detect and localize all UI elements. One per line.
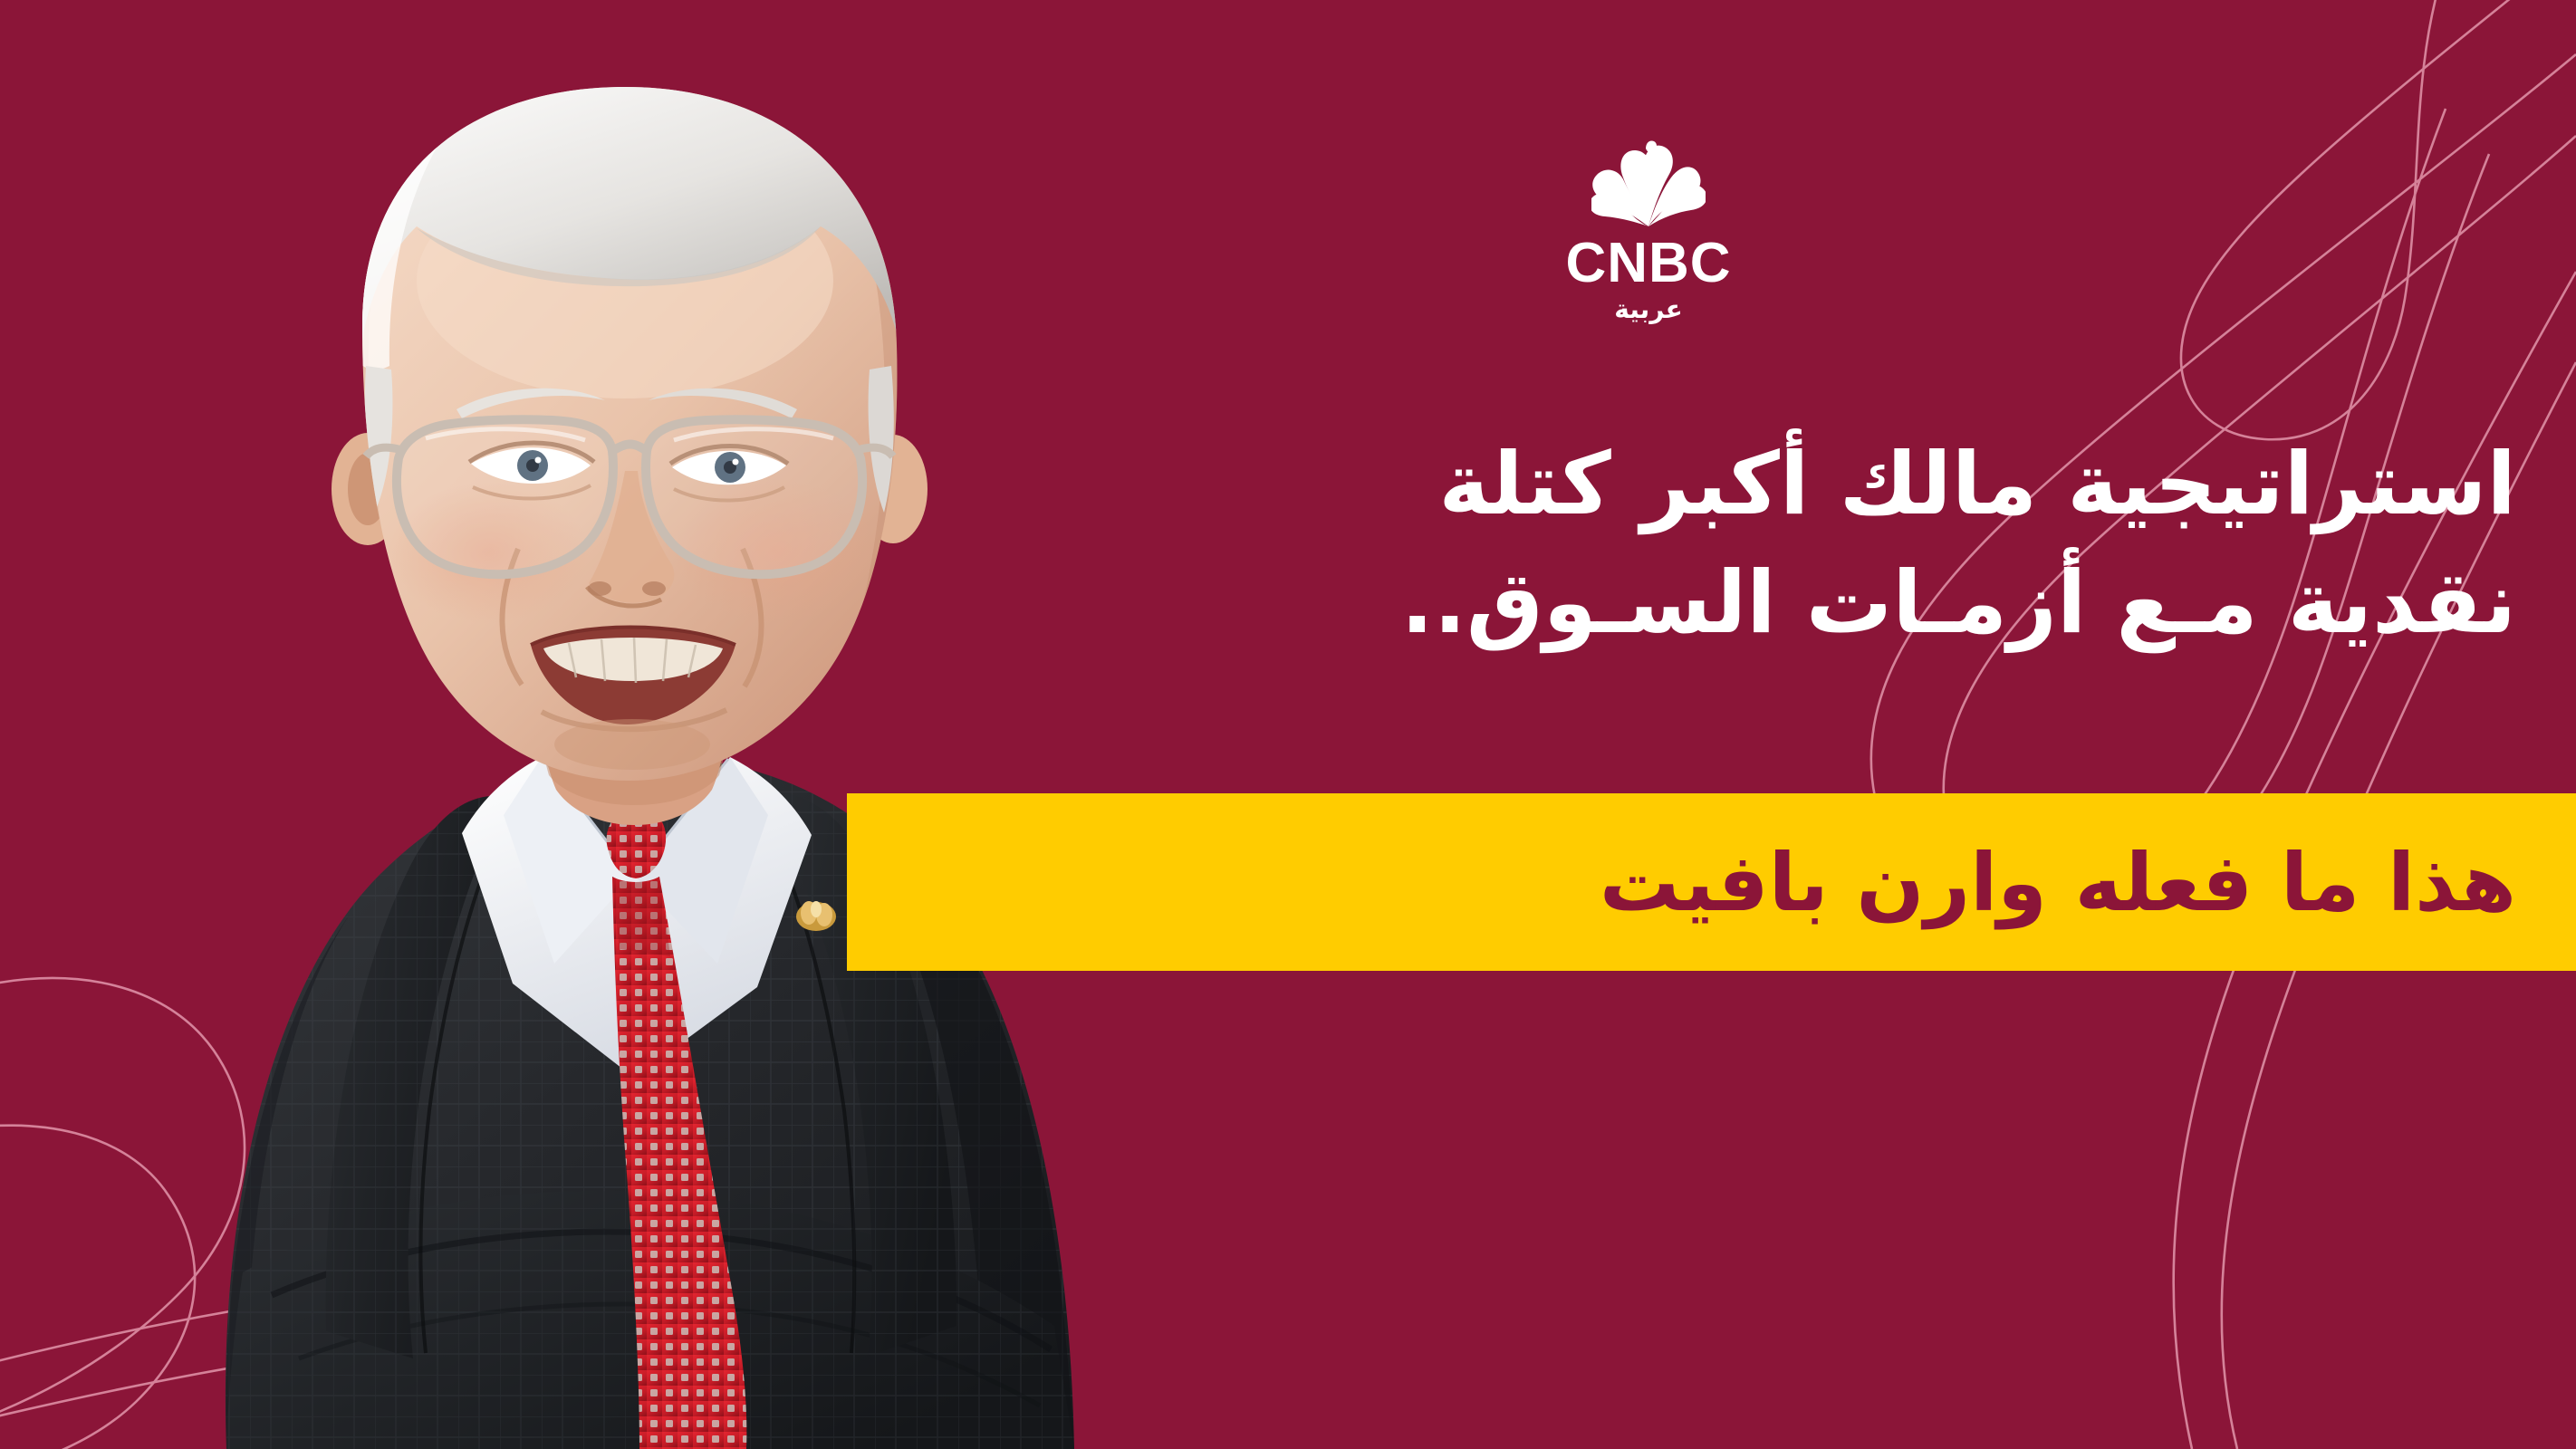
banner-text: هذا ما فعله وارن بافيت — [886, 801, 2516, 965]
cnbc-arabia-logo: CNBC عربية — [1531, 136, 1766, 322]
right-eye — [670, 446, 788, 501]
lapel-pin-icon — [796, 901, 836, 931]
eyeglasses — [366, 419, 893, 574]
social-media-card: CNBC عربية استراتيجية مالك أكبر كتلة نقد… — [0, 0, 2576, 1449]
face — [332, 68, 928, 788]
headline-line-1: استراتيجية مالك أكبر كتلة — [913, 426, 2516, 544]
necktie — [607, 808, 747, 1449]
cnbc-arabic-wordmark: عربية — [1531, 297, 1766, 322]
decorative-curves — [0, 0, 2576, 1449]
cnbc-peacock-icon — [1591, 136, 1706, 228]
cnbc-wordmark: CNBC — [1531, 235, 1766, 292]
dress-shirt — [462, 757, 812, 1078]
left-eye — [469, 443, 594, 499]
portrait-warren-buffett — [0, 0, 1286, 1449]
headline-line-2: نقدية مـع أزمـات السـوق.. — [913, 544, 2516, 663]
headline: استراتيجية مالك أكبر كتلة نقدية مـع أزمـ… — [913, 426, 2516, 663]
